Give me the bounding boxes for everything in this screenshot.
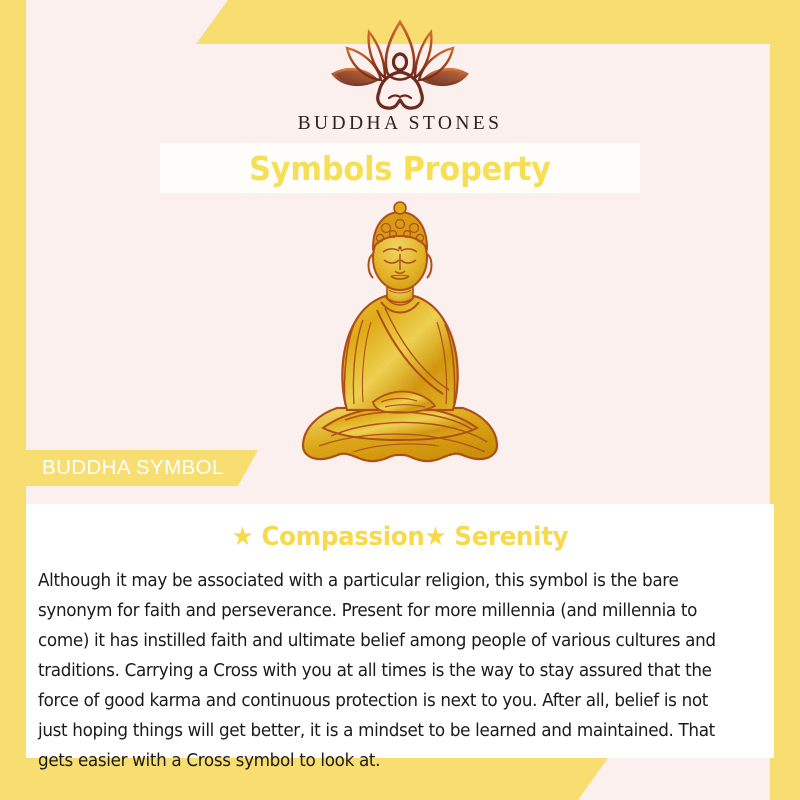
- frame-bar-top: [0, 0, 800, 44]
- seated-golden-buddha-statue: [285, 196, 515, 486]
- page-title: Symbols Property: [249, 149, 551, 188]
- virtues-heading: ★ Compassion★ Serenity: [54, 522, 746, 552]
- ribbon-label: BUDDHA SYMBOL: [26, 456, 224, 480]
- description-paragraph: Although it may be associated with a par…: [38, 566, 737, 776]
- content-card: ★ Compassion★ Serenity Although it may b…: [26, 504, 774, 758]
- section-ribbon: BUDDHA SYMBOL: [26, 450, 258, 486]
- title-banner: Symbols Property: [160, 143, 640, 193]
